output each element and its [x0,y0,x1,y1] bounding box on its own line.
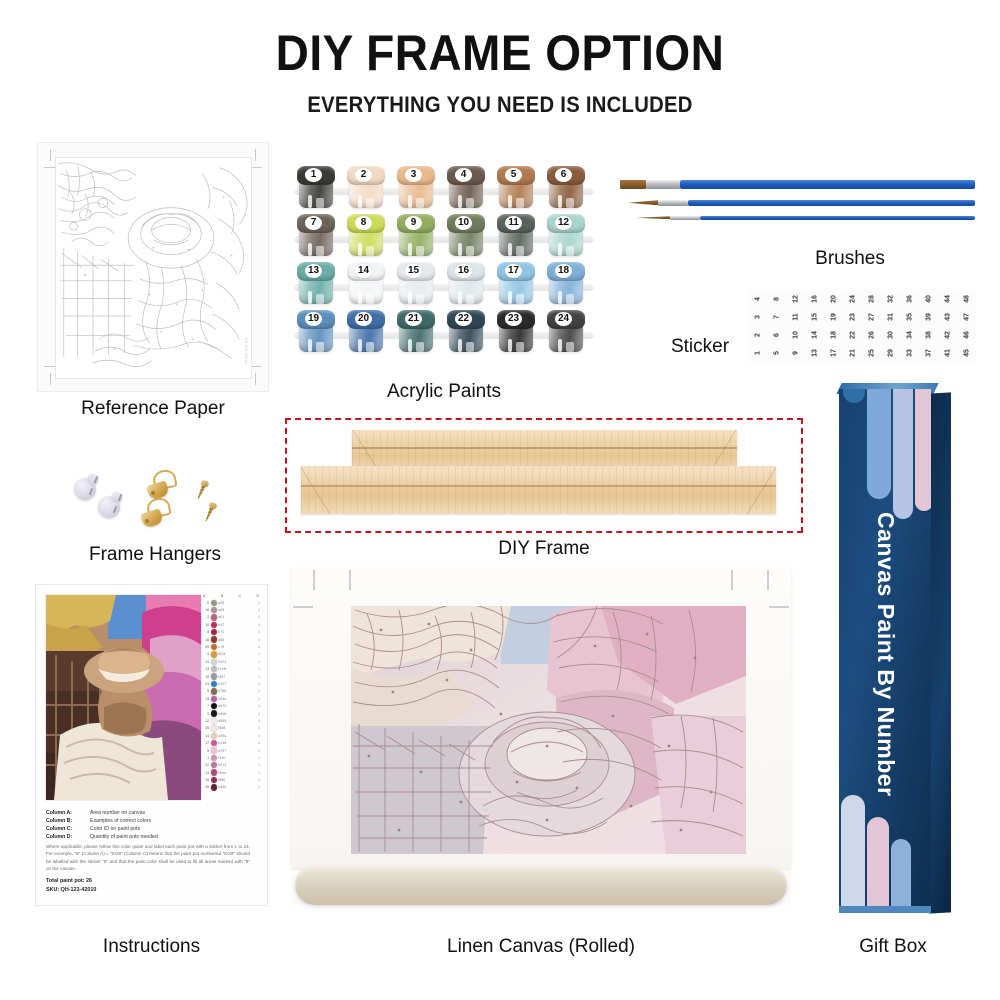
legend-area-number: 3 [202,712,209,716]
legend-row: 26b4001 [202,784,260,791]
sticker-number: 16 [806,290,824,309]
legend-header-c: C [239,594,241,598]
legend-quantity: 1 [255,660,260,664]
pot-number: 10 [455,216,472,230]
pot-number: 9 [405,216,422,230]
box-accent-strip [867,389,891,499]
sticker-number: 3 [749,308,767,327]
sticker-number: 40 [920,290,938,309]
sticker-number: 42 [939,326,957,345]
sticker-number: 33 [901,344,919,363]
instructions-color-legend: A B C D 8a26116a0812a01110b4716b70118a85… [202,594,260,807]
legend-area-number: 13 [202,697,209,701]
column-label: Column D: [46,833,90,841]
paint-pot-20: 20 [346,310,386,354]
legend-area-number: 20 [202,645,209,649]
sticker-sheet-item: 4812162024283236404448371115192327313539… [748,290,976,362]
legend-color-swatch [211,784,217,790]
pot-number: 15 [405,264,422,278]
legend-color-code: f580 [218,778,253,782]
legend-area-number: 23 [202,667,209,671]
brush-bristle [636,216,670,219]
legend-quantity: 1 [255,771,260,775]
legend-quantity: 1 [255,749,260,753]
instructions-note: Where applicable, please follow this col… [46,843,250,873]
legend-color-swatch [211,629,217,635]
legend-row: 5d7971 [202,747,260,754]
legend-color-code: h606 [218,712,253,716]
sticker-number: 25 [863,344,881,363]
legend-area-number: 4 [202,652,209,656]
caption-brushes: Brushes [760,248,940,270]
pot-number: 8 [355,216,372,230]
total-paint-pot: Total paint pot: 26 [46,877,96,886]
pot-number: 4 [455,168,472,182]
sticker-number: 21 [844,344,862,363]
legend-color-swatch [211,725,217,731]
crop-mark [731,570,733,590]
column-definition: Column A:Area number on canvas [46,809,258,817]
legend-color-swatch [211,659,217,665]
caption-sticker: Sticker [650,336,750,358]
legend-color-code: a26 [218,601,253,605]
legend-color-code: h94u [218,697,253,701]
legend-row: 21h2071 [202,680,260,687]
paint-pot-7: 7 [296,214,336,258]
legend-quantity: 1 [255,675,260,679]
legend-row: 22h0131 [202,762,260,769]
paint-pot-5: 5 [496,166,536,210]
legend-quantity: 1 [255,689,260,693]
paint-pot-23: 23 [496,310,536,354]
sticker-number: 15 [806,308,824,327]
legend-row: 8a261 [202,599,260,606]
legend-row: 20b791 [202,643,260,650]
sticker-number: 32 [882,290,900,309]
paint-pot-14: 14 [346,262,386,306]
legend-area-number: 11 [202,771,209,775]
sticker-number: 9 [787,344,805,363]
legend-color-swatch [211,644,217,650]
column-label: Column B: [46,817,90,825]
instructions-totals: Total paint pot: 26 SKU: QH-123-42010 [46,877,96,896]
legend-area-number: 25 [202,726,209,730]
legend-color-code: f44u [218,756,253,760]
legend-quantity: 1 [255,734,260,738]
sticker-number: 22 [844,326,862,345]
brush-handle [688,200,975,206]
pot-number: 7 [305,216,322,230]
sticker-number: 37 [920,344,938,363]
box-accent-strip [841,795,865,913]
paint-pot-2: 2 [346,166,386,210]
legend-color-code: b47 [218,623,253,627]
pot-number: 5 [505,168,522,182]
legend-color-code: h013 [218,763,253,767]
box-accent-strip [915,389,931,511]
legend-color-swatch [211,710,217,716]
legend-color-code: d39u [218,734,253,738]
legend-color-swatch [211,614,217,620]
sticker-number: 13 [806,344,824,363]
legend-area-number: 1 [202,756,209,760]
column-text: Color ID on paint pots [90,825,140,833]
legend-quantity: 1 [255,704,260,708]
sticker-number: 31 [882,308,900,327]
linen-canvas-item [291,568,791,905]
legend-color-code: a08 [218,608,253,612]
legend-quantity: 1 [255,630,260,634]
legend-row: 6b701 [202,629,260,636]
sticker-number: 5 [768,344,786,363]
legend-color-code: b70 [218,630,253,634]
legend-row: 19f3671 [202,673,260,680]
caption-gift-box: Gift Box [833,936,953,958]
legend-color-swatch [211,733,217,739]
brush-round-medium [620,200,975,206]
legend-color-swatch [211,755,217,761]
legend-quantity: 1 [255,712,260,716]
legend-row: 9h7581 [202,688,260,695]
sticker-number: 27 [863,308,881,327]
crop-mark [293,606,313,608]
sticker-number: 36 [901,290,919,309]
legend-color-code: a85 [218,638,253,642]
sticker-number: 14 [806,326,824,345]
reference-paper-item: GN-123-42010 [37,142,269,392]
legend-area-number: 26 [202,785,209,789]
caption-frame-hangers: Frame Hangers [52,544,258,566]
box-accent-strip [893,389,913,519]
sticker-number: 47 [958,308,976,327]
product-infographic: DIY FRAME OPTION EVERYTHING YOU NEED IS … [0,0,1000,1000]
legend-area-number: 14 [202,734,209,738]
sticker-number: 24 [844,290,862,309]
caption-linen-canvas: Linen Canvas (Rolled) [291,936,791,958]
paint-pot-18: 18 [546,262,586,306]
sticker-number: 6 [768,326,786,345]
legend-color-swatch [211,600,217,606]
legend-quantity: 1 [255,601,260,605]
legend-color-swatch [211,681,217,687]
instructions-item: A B C D 8a26116a0812a01110b4716b70118a85… [35,584,268,906]
legend-area-number: 10 [202,623,209,627]
legend-header-d: D [257,594,259,598]
column-text: Quantity of paint pots needed [90,833,158,841]
legend-quantity: 1 [255,608,260,612]
instructions-preview-artwork [45,594,202,801]
legend-area-number: 19 [202,675,209,679]
legend-color-swatch [211,703,217,709]
frame-hangers-item [70,468,240,534]
legend-quantity: 1 [255,726,260,730]
legend-color-code: h201 [218,660,253,664]
pot-number: 1 [305,168,322,182]
sticker-number: 26 [863,326,881,345]
legend-area-number: 5 [202,749,209,753]
legend-area-number: 8 [202,601,209,605]
brush-ferrule [670,216,700,220]
legend-area-number: 16 [202,608,209,612]
plastic-hook-icon [74,474,100,500]
legend-row: 25f5d81 [202,725,260,732]
sticker-number: 38 [920,326,938,345]
column-definition: Column C:Color ID on paint pots [46,825,258,833]
box-accent-strip [891,839,911,913]
paint-pot-13: 13 [296,262,336,306]
legend-color-swatch [211,688,217,694]
pot-number: 13 [305,264,322,278]
canvas-roll [295,865,787,905]
crop-mark [50,373,51,385]
sticker-number: 2 [749,326,767,345]
screw-icon [194,479,209,501]
sku-line: SKU: QH-123-42010 [46,886,96,895]
column-definition: Column D:Quantity of paint pots needed [46,833,258,841]
legend-area-number: 21 [202,682,209,686]
paint-pot-22: 22 [446,310,486,354]
brush-handle [680,180,975,189]
legend-area-number: 6 [202,630,209,634]
pot-number: 23 [505,312,522,326]
legend-color-code: d797 [218,749,253,753]
column-text: Area number on canvas [90,809,145,817]
legend-quantity: 1 [255,778,260,782]
legend-color-swatch [211,696,217,702]
paint-pot-9: 9 [396,214,436,258]
legend-color-code: f367 [218,675,253,679]
legend-quantity: 1 [255,756,260,760]
sticker-number: 30 [882,326,900,345]
sticker-number: 19 [825,308,843,327]
legend-area-number: 24 [202,660,209,664]
legend-header-a: A [203,594,205,598]
legend-quantity: 1 [255,785,260,789]
sticker-number: 7 [768,308,786,327]
paint-pot-19: 19 [296,310,336,354]
paint-pot-10: 10 [446,214,486,258]
pot-number: 19 [305,312,322,326]
brush-handle [700,216,975,220]
legend-color-code: b79 [218,645,253,649]
legend-area-number: 15 [202,778,209,782]
sticker-number: 48 [958,290,976,309]
legend-color-code: h555 [218,719,253,723]
box-side-face [929,392,951,913]
pot-number: 14 [355,264,372,278]
legend-quantity: 1 [255,615,260,619]
legend-color-swatch [211,636,217,642]
pot-number: 2 [355,168,372,182]
brush-ferrule [646,180,680,189]
legend-row: 17h1481 [202,739,260,746]
box-label: Canvas Paint By Number [839,539,931,769]
paint-pot-11: 11 [496,214,536,258]
crop-mark [255,149,256,161]
pot-number: 17 [505,264,522,278]
screw-icon [202,501,217,523]
legend-row: 2a011 [202,614,260,621]
sticker-number-grid: 4812162024283236404448371115192327313539… [748,290,976,362]
brushes-item [620,176,975,246]
sticker-number: 45 [958,344,976,363]
sticker-number: 43 [939,308,957,327]
legend-color-swatch [211,666,217,672]
sticker-number: 46 [958,326,976,345]
legend-area-number: 7 [202,704,209,708]
paint-pot-16: 16 [446,262,486,306]
pot-number: 20 [355,312,372,326]
column-label: Column A: [46,809,90,817]
crop-mark [349,570,351,590]
pot-number: 12 [555,216,572,230]
sticker-number: 8 [768,290,786,309]
paint-pot-4: 4 [446,166,486,210]
paint-pot-1: 1 [296,166,336,210]
legend-color-code: f02a [218,652,253,656]
pot-number: 11 [505,216,522,230]
caption-reference-paper: Reference Paper [37,398,269,420]
legend-quantity: 1 [255,697,260,701]
legend-color-swatch [211,747,217,753]
sticker-number: 17 [825,344,843,363]
legend-row: 23f144f1 [202,666,260,673]
caption-diy-frame: DIY Frame [285,538,803,560]
legend-row: 10b471 [202,621,260,628]
paint-pot-8: 8 [346,214,386,258]
pot-number: 24 [555,312,572,326]
pot-number: 16 [455,264,472,278]
instructions-column-definitions: Column A:Area number on canvasColumn B:E… [46,809,258,841]
legend-quantity: 1 [255,623,260,627]
d-ring-hanger-icon [142,498,170,526]
legend-row: 11f4mu1 [202,769,260,776]
plastic-hook-icon [98,492,124,518]
sticker-number: 10 [787,326,805,345]
brush-ferrule [658,200,688,206]
legend-row: 14d39u1 [202,732,260,739]
paint-pot-21: 21 [396,310,436,354]
caption-acrylic-paints: Acrylic Paints [296,381,592,403]
legend-area-number: 9 [202,689,209,693]
sticker-number: 20 [825,290,843,309]
legend-row: 4f02a1 [202,651,260,658]
reference-line-art [56,158,251,376]
sticker-number: 29 [882,344,900,363]
pot-number: 22 [455,312,472,326]
legend-color-code: f5d8 [218,726,253,730]
legend-color-swatch [211,777,217,783]
legend-color-code: a970 [218,704,253,708]
crop-mark [50,149,51,161]
legend-row: 15f5801 [202,776,260,783]
legend-quantity: 1 [255,763,260,767]
caption-instructions: Instructions [35,936,268,958]
sticker-number: 41 [939,344,957,363]
legend-quantity: 1 [255,682,260,686]
legend-quantity: 1 [255,652,260,656]
column-definition: Column B:Examples of correct colors [46,817,258,825]
legend-area-number: 22 [202,763,209,767]
legend-color-code: b400 [218,785,253,789]
sticker-number: 39 [920,308,938,327]
paint-pot-6: 6 [546,166,586,210]
legend-header-b: B [221,594,223,598]
gift-box-item: Canvas Paint By Number [833,383,951,916]
stretcher-bar [301,466,776,514]
legend-color-swatch [211,607,217,613]
crop-mark [313,570,315,590]
paint-pot-12: 12 [546,214,586,258]
sticker-number: 44 [939,290,957,309]
legend-color-swatch [211,651,217,657]
legend-row: 7a9701 [202,702,260,709]
box-accent-strip [839,906,931,913]
column-text: Examples of correct colors [90,817,151,825]
page-subtitle: EVERYTHING YOU NEED IS INCLUDED [40,92,960,118]
legend-row: 3h6061 [202,710,260,717]
legend-row: 12h5551 [202,717,260,724]
legend-color-code: h207 [218,682,253,686]
legend-area-number: 17 [202,741,209,745]
sticker-number: 35 [901,308,919,327]
legend-color-swatch [211,769,217,775]
sticker-number: 12 [787,290,805,309]
d-ring-hanger-icon [148,470,176,498]
sticker-number: 11 [787,308,805,327]
legend-color-swatch [211,740,217,746]
diy-frame-item [285,418,803,533]
acrylic-paints-item: 123456789101112131415161718192021222324 [296,166,592,358]
pot-number: 6 [555,168,572,182]
legend-row: 24h2011 [202,658,260,665]
brush-bristle [628,200,658,205]
box-accent-strip [867,817,889,913]
brush-bristle [620,180,646,189]
pot-number: 18 [555,264,572,278]
legend-quantity: 1 [255,741,260,745]
legend-area-number: 12 [202,719,209,723]
crop-mark [769,606,789,608]
reference-artwork: GN-123-42010 [55,157,252,379]
legend-row: 1f44u1 [202,754,260,761]
box-accent-strip [843,389,865,403]
box-front-face: Canvas Paint By Number [839,389,931,913]
canvas-printed-artwork [351,606,746,854]
legend-area-number: 18 [202,638,209,642]
crop-mark [255,373,256,385]
legend-area-number: 2 [202,615,209,619]
crop-mark [767,570,769,590]
legend-color-code: h758 [218,689,253,693]
reference-watermark: GN-123-42010 [244,338,248,364]
pot-number: 21 [405,312,422,326]
legend-quantity: 1 [255,667,260,671]
paint-pot-15: 15 [396,262,436,306]
legend-color-swatch [211,622,217,628]
legend-color-swatch [211,718,217,724]
legend-color-code: f4mu [218,771,253,775]
sticker-number: 18 [825,326,843,345]
column-label: Column C: [46,825,90,833]
canvas-sheet [291,568,791,868]
brush-liner-fine [620,216,975,220]
pot-number: 3 [405,168,422,182]
brush-flat [620,180,975,189]
legend-row: 18a851 [202,636,260,643]
paint-pot-17: 17 [496,262,536,306]
legend-color-code: f144f [218,667,253,671]
